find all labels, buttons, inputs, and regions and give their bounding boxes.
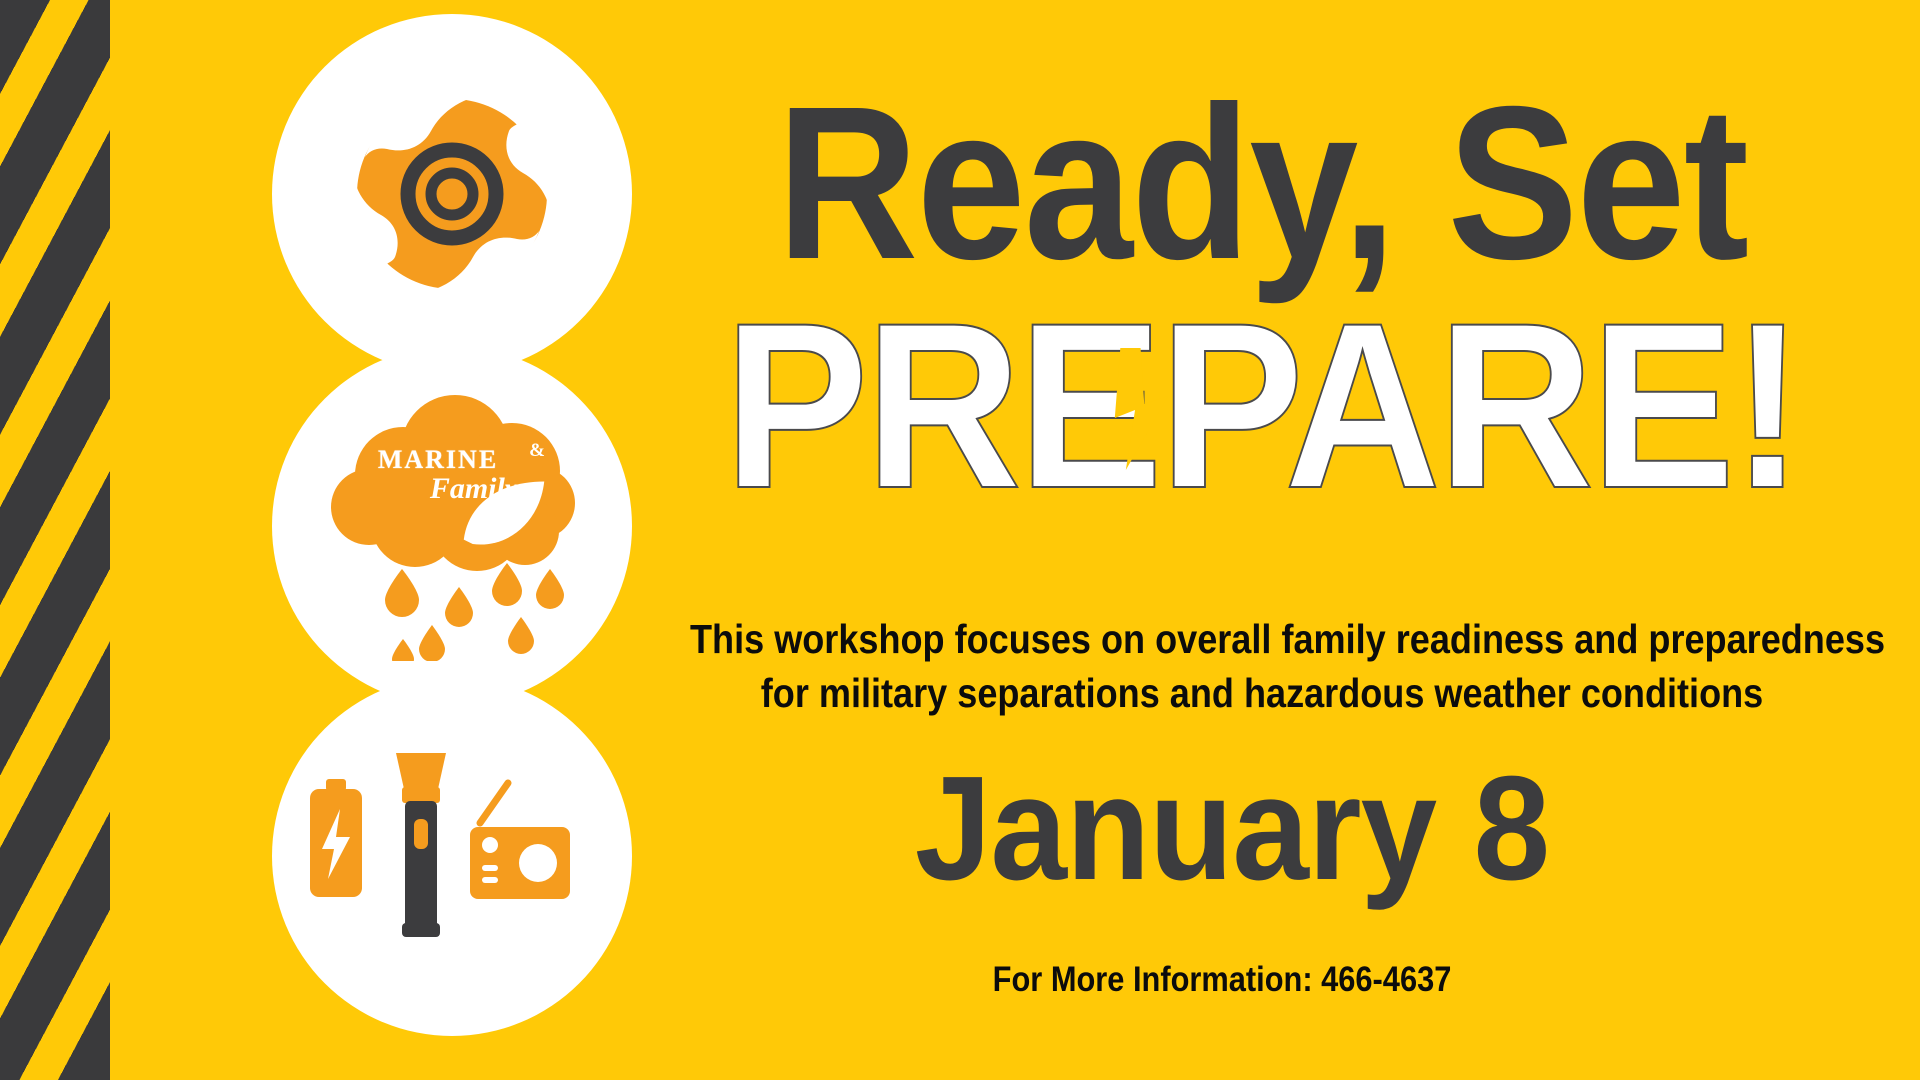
emergency-kit-icon [302, 731, 602, 981]
icon-column: MARINE & Family [222, 0, 612, 1080]
headline-ready-set: Ready, Set [677, 88, 1847, 280]
event-date: January 8 [655, 755, 1808, 903]
icon-circle-hurricane [272, 14, 632, 374]
poster-content: Ready, Set PREPARE! This workshop focuse… [612, 0, 1920, 1080]
icon-circle-rain-cloud: MARINE & Family [272, 346, 632, 706]
headline-prepare-text: PREPARE! [724, 274, 1800, 538]
icon-circle-emergency-kit [272, 676, 632, 1036]
hazard-stripes-band [0, 0, 110, 1080]
headline-prepare: PREPARE! [664, 310, 1860, 504]
rain-cloud-icon: MARINE & Family [307, 391, 597, 661]
radio-icon [470, 783, 570, 899]
contact-info: For More Information: 466-4637 [685, 962, 1759, 997]
body-copy-line-2: for military separations and hazardous w… [690, 666, 1834, 720]
battery-icon [310, 779, 362, 897]
hurricane-icon [327, 69, 577, 319]
body-copy-line-1: This workshop focuses on overall family … [690, 612, 1834, 666]
body-copy: This workshop focuses on overall family … [690, 612, 1834, 720]
flashlight-icon [396, 753, 446, 937]
